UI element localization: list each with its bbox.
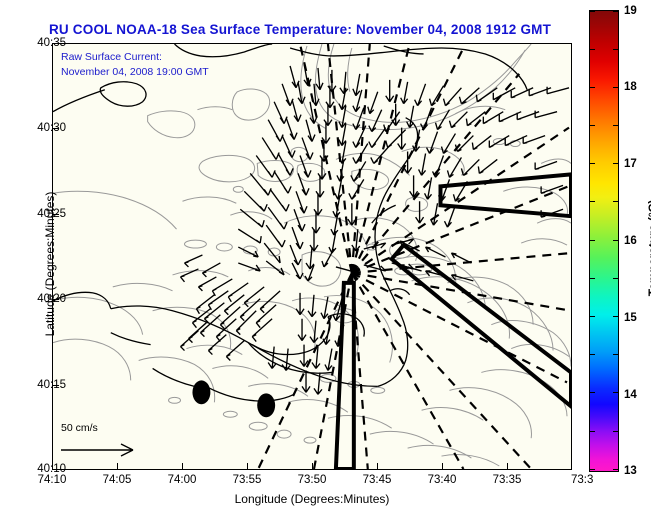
xtick-mark (442, 463, 443, 470)
cbar-tick (590, 49, 595, 50)
cbar-tick (613, 125, 618, 126)
cbar-tick-label: 19 (624, 5, 637, 17)
page-title: RU COOL NOAA-18 Sea Surface Temperature:… (0, 22, 600, 37)
xtick-label: 74:00 (168, 474, 197, 486)
cbar-tick (590, 392, 595, 393)
map-plot-area[interactable]: Raw Surface Current: November 04, 2008 1… (52, 43, 572, 470)
cbar-tick-label: 16 (624, 235, 637, 247)
cbar-tick (613, 392, 618, 393)
xtick-label: 74:05 (103, 474, 132, 486)
cbar-tick (613, 87, 618, 88)
cbar-tick-label: 18 (624, 81, 637, 93)
xtick-label: 73:50 (298, 474, 327, 486)
cbar-tick (613, 49, 618, 50)
cbar-tick (590, 316, 595, 317)
vector-scale-arrow-icon (59, 442, 141, 458)
vector-scale-label: 50 cm/s (61, 422, 98, 434)
xtick-mark (247, 463, 248, 470)
cbar-tick (590, 469, 595, 470)
xtick-label: 73:30 (571, 474, 593, 486)
cbar-tick (590, 11, 595, 12)
cbar-tick (613, 354, 618, 355)
xtick-label: 73:40 (428, 474, 457, 486)
cbar-tick (613, 240, 618, 241)
cbar-tick (613, 316, 618, 317)
colorbar-title: Temperature (°C) (646, 133, 651, 363)
xtick-mark (312, 463, 313, 470)
xtick-mark (507, 463, 508, 470)
cbar-tick (590, 87, 595, 88)
map-canvas (53, 44, 571, 469)
cbar-tick (613, 278, 618, 279)
vector-scale-legend: 50 cm/s (55, 422, 147, 469)
xtick-label: 73:45 (363, 474, 392, 486)
cbar-tick (590, 278, 595, 279)
xtick-label: 73:35 (493, 474, 522, 486)
x-axis-title: Longitude (Degrees:Minutes) (52, 492, 572, 506)
ytick-label: 40:30 (37, 122, 66, 134)
cbar-tick (590, 125, 595, 126)
xtick-mark (182, 463, 183, 470)
cbar-tick (613, 11, 618, 12)
cbar-tick (613, 431, 618, 432)
cbar-tick (590, 201, 595, 202)
radar-station-east-icon (257, 393, 275, 417)
cbar-tick-label: 14 (624, 389, 637, 401)
cbar-tick (613, 469, 618, 470)
xtick-mark (571, 463, 572, 470)
xtick-mark (52, 463, 53, 470)
xtick-label: 74:10 (38, 474, 67, 486)
ytick-label: 40:35 (37, 37, 66, 49)
y-axis-title: Latitude (Degrees:Minutes) (43, 134, 57, 394)
radar-station-west-icon (192, 380, 210, 404)
cbar-tick-label: 17 (624, 158, 637, 170)
cbar-tick (590, 240, 595, 241)
cbar-tick (613, 163, 618, 164)
cbar-tick (590, 354, 595, 355)
cbar-tick (590, 431, 595, 432)
xtick-mark (377, 463, 378, 470)
cbar-tick (613, 201, 618, 202)
xtick-label: 73:55 (233, 474, 262, 486)
temperature-colorbar[interactable] (589, 10, 619, 472)
cbar-tick (590, 163, 595, 164)
cbar-tick-label: 15 (624, 312, 637, 324)
cbar-tick-label: 13 (624, 465, 637, 477)
map-background (53, 44, 571, 469)
